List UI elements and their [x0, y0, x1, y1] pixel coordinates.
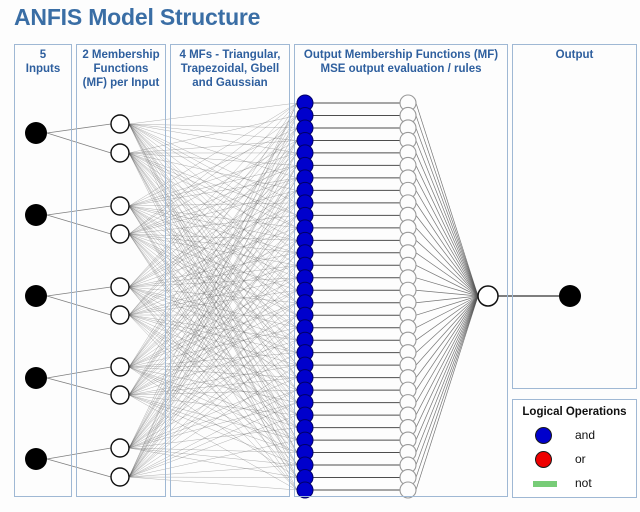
anfis-diagram: ANFIS Model Structure 5Inputs2 Membershi…: [0, 0, 640, 512]
legend-panel: Logical Operations andornot: [512, 399, 637, 498]
panel-label-output: Output: [512, 48, 637, 62]
panel-inputs: [14, 44, 72, 497]
panel-label-inputs: 5Inputs: [14, 48, 72, 76]
panel-label-line: Functions: [78, 62, 164, 76]
panel-label-line: MSE output evaluation / rules: [296, 62, 506, 76]
panel-label-line: Output: [514, 48, 635, 62]
panel-mf-types: [170, 44, 290, 497]
legend-not: not: [513, 474, 636, 496]
panel-membership-functions: [76, 44, 166, 497]
legend-circle-icon: [535, 427, 552, 444]
panel-label-output-membership-functions: Output Membership Functions (MF)MSE outp…: [294, 48, 508, 76]
legend-title: Logical Operations: [513, 406, 636, 418]
panel-label-line: (MF) per Input: [78, 76, 164, 90]
panel-label-line: 2 Membership: [78, 48, 164, 62]
page-title: ANFIS Model Structure: [14, 4, 260, 31]
panel-output-membership-functions: [294, 44, 508, 497]
panel-label-mf-types: 4 MFs - Triangular,Trapezoidal, Gbelland…: [170, 48, 290, 90]
legend-or: or: [513, 450, 636, 472]
panel-output: [512, 44, 637, 389]
legend-line-icon: [533, 481, 557, 487]
panel-label-membership-functions: 2 MembershipFunctions(MF) per Input: [76, 48, 166, 90]
panel-label-line: Output Membership Functions (MF): [296, 48, 506, 62]
legend-label: and: [575, 428, 595, 442]
panel-label-line: 5: [16, 48, 70, 62]
legend-circle-icon: [535, 451, 552, 468]
panel-label-line: Inputs: [16, 62, 70, 76]
panel-label-line: 4 MFs - Triangular,: [172, 48, 288, 62]
legend-label: not: [575, 476, 592, 490]
legend-label: or: [575, 452, 586, 466]
panel-label-line: Trapezoidal, Gbell: [172, 62, 288, 76]
panel-label-line: and Gaussian: [172, 76, 288, 90]
legend-and: and: [513, 426, 636, 448]
